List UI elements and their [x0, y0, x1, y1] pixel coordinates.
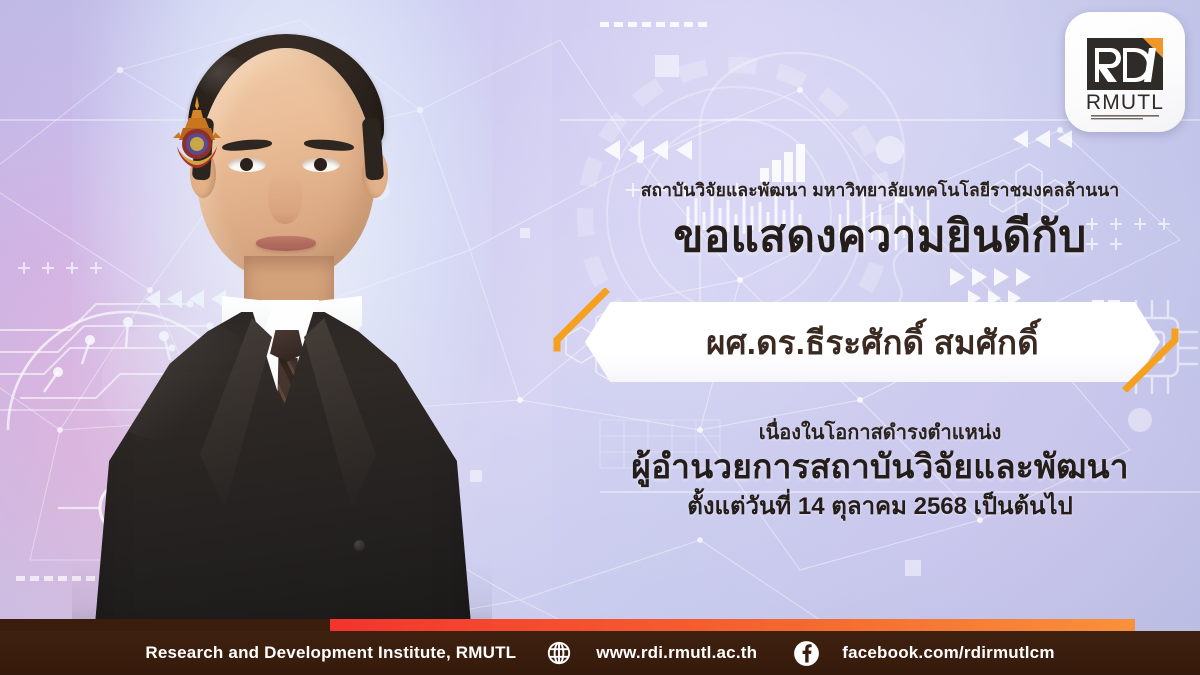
royal-crest-emblem-icon	[169, 94, 225, 172]
globe-icon	[546, 640, 572, 666]
honoree-name: ผศ.ดร.ธีระศักดิ์ สมศักดิ์	[585, 302, 1160, 382]
honoree-portrait	[72, 0, 492, 636]
occasion-block: เนื่องในโอกาสดำรงตำแหน่ง ผู้อำนวยการสถาบ…	[560, 420, 1200, 523]
svg-text:RMUTL: RMUTL	[1086, 91, 1164, 114]
portrait-nose	[268, 172, 302, 224]
facebook-icon[interactable]	[793, 640, 820, 667]
accent-segment-gradient	[330, 619, 1135, 631]
organization-name: สถาบันวิจัยและพัฒนา มหาวิทยาลัยเทคโนโลยี…	[560, 180, 1200, 202]
rdi-logo-mark-icon: RMUTL	[1065, 12, 1185, 132]
congratulations-banner: RMUTL สถาบันวิจัยและพัฒนา มหาวิทยาลัยเทค…	[0, 0, 1200, 675]
footer-institute-name: Research and Development Institute, RMUT…	[145, 643, 516, 663]
rdi-rmutl-logo[interactable]: RMUTL	[1065, 12, 1185, 132]
footer-bar: Research and Development Institute, RMUT…	[0, 631, 1200, 675]
name-bracket-right-icon	[1121, 328, 1185, 392]
portrait-pupil-left	[240, 158, 253, 171]
footer-website-url[interactable]: www.rdi.rmutl.ac.th	[596, 643, 757, 663]
portrait-jacket-button	[354, 540, 365, 551]
congratulations-headline: ขอแสดงความยินดีกับ	[560, 212, 1200, 261]
portrait-mouth	[256, 236, 316, 251]
footer-accent-bar	[0, 619, 1135, 631]
portrait-fabric-sheen	[102, 320, 252, 440]
honoree-name-banner: ผศ.ดร.ธีระศักดิ์ สมศักดิ์	[545, 292, 1200, 392]
position-title: ผู้อำนวยการสถาบันวิจัยและพัฒนา	[560, 448, 1200, 489]
occasion-lead-line: เนื่องในโอกาสดำรงตำแหน่ง	[560, 420, 1200, 446]
accent-segment-brown	[0, 619, 330, 631]
portrait-pupil-right	[314, 158, 327, 171]
effective-date: ตั้งแต่วันที่ 14 ตุลาคม 2568 เป็นต้นไป	[560, 492, 1200, 523]
footer-facebook-handle[interactable]: facebook.com/rdirmutlcm	[842, 643, 1054, 663]
